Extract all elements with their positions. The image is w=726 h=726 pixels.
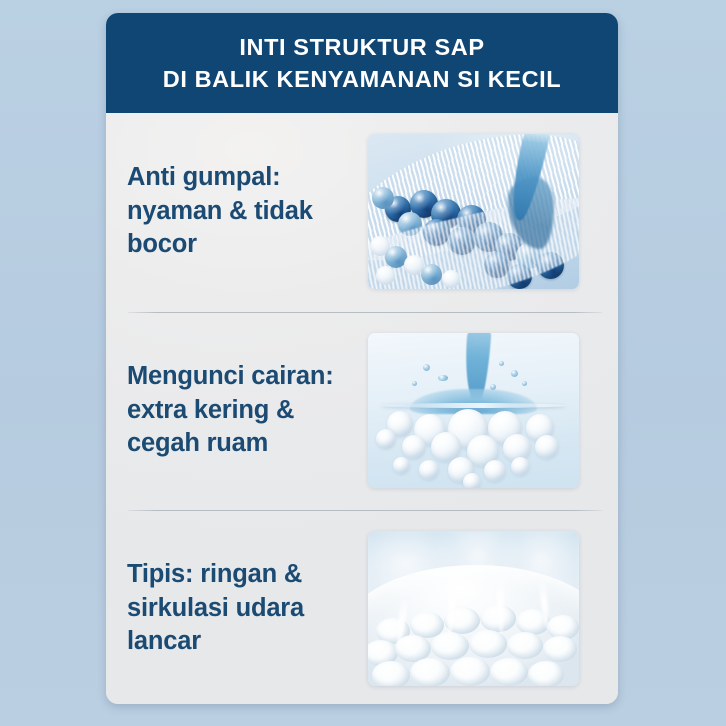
feature-text-tipis: Tipis: ringan & sirkulasi udara lancar bbox=[106, 558, 368, 660]
header-title-line2: DI BALIK KENYAMANAN SI KECIL bbox=[163, 66, 561, 92]
feature-row-anti-gumpal: Anti gumpal: nyaman & tidak bocor bbox=[106, 113, 618, 310]
fig1-bead bbox=[421, 264, 442, 285]
feature-row-mengunci-cairan: Mengunci cairan: extra kering & cegah ru… bbox=[106, 312, 618, 509]
feature-row-tipis: Tipis: ringan & sirkulasi udara lancar bbox=[106, 510, 618, 704]
feature-image-sap-beads bbox=[368, 134, 579, 289]
fig2-droplet bbox=[522, 381, 527, 386]
fig2-sphere bbox=[535, 435, 559, 459]
fig2-droplet bbox=[423, 364, 430, 371]
fig2-liquid-surface bbox=[381, 403, 567, 408]
info-card: INTI STRUKTUR SAP DI BALIK KENYAMANAN SI… bbox=[106, 13, 618, 704]
feature-text-mengunci-cairan: Mengunci cairan: extra kering & cegah ru… bbox=[106, 360, 368, 462]
fig3-quilt-bump bbox=[528, 661, 564, 686]
feature-image-water-lock bbox=[368, 333, 579, 488]
fig2-sphere bbox=[463, 473, 481, 489]
fig2-droplet bbox=[511, 370, 518, 377]
fig3-quilt-bump bbox=[507, 632, 543, 659]
fig3-quilt-bump bbox=[372, 661, 410, 686]
card-header: INTI STRUKTUR SAP DI BALIK KENYAMANAN SI… bbox=[106, 13, 618, 113]
fig2-droplet bbox=[499, 361, 504, 366]
feature-text-anti-gumpal: Anti gumpal: nyaman & tidak bocor bbox=[106, 161, 368, 263]
header-title-line1: INTI STRUKTUR SAP bbox=[239, 34, 484, 60]
fig2-sphere bbox=[511, 457, 530, 476]
fig2-droplet bbox=[412, 381, 417, 386]
fig1-bead bbox=[372, 187, 394, 209]
fig2-sphere bbox=[484, 460, 506, 482]
fig2-sphere bbox=[393, 457, 410, 474]
fig2-sphere bbox=[376, 429, 396, 449]
poster-root: INTI STRUKTUR SAP DI BALIK KENYAMANAN SI… bbox=[0, 0, 726, 726]
fig2-sphere bbox=[419, 460, 439, 480]
fig3-quilt-bump bbox=[450, 657, 490, 686]
fig2-sphere bbox=[402, 435, 426, 459]
fig3-quilt-bump bbox=[410, 658, 450, 686]
feature-image-air-circulation bbox=[368, 531, 579, 686]
fig2-droplet bbox=[438, 375, 448, 381]
card-body: Anti gumpal: nyaman & tidak bocor bbox=[106, 113, 618, 704]
